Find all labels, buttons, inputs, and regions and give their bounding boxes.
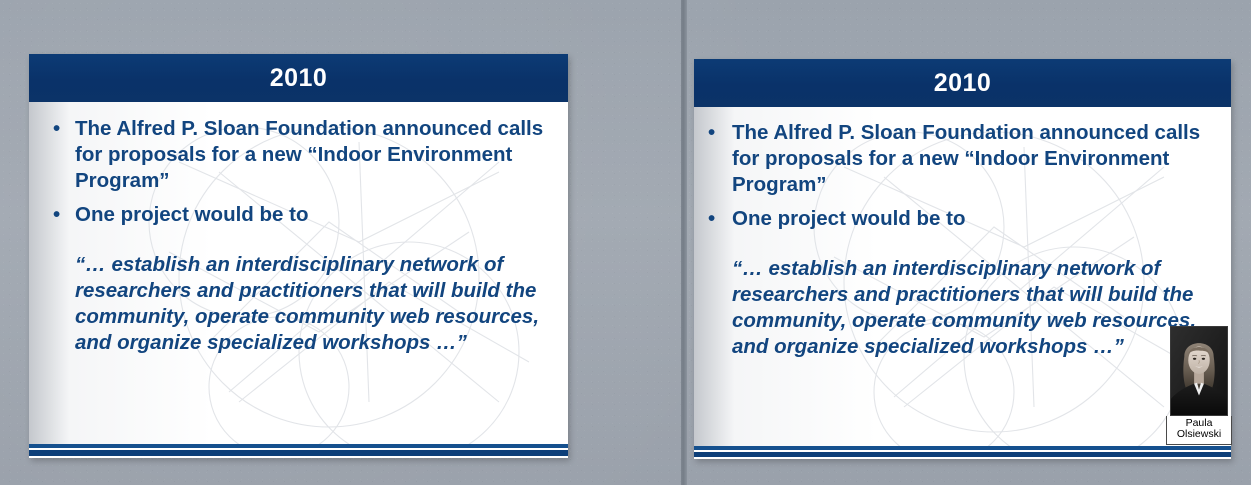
bullet-text: One project would be to [75, 203, 308, 226]
slide-right[interactable]: 2010 • The Alfred P. Sloan Foundation [694, 59, 1231, 459]
slide-title-text: 2010 [934, 69, 992, 98]
portrait-block: Paula Olsiewski [1170, 326, 1228, 445]
bullet-dot-icon: • [53, 116, 60, 142]
bullet-list: • The Alfred P. Sloan Foundation announc… [53, 116, 552, 228]
slide-left[interactable]: 2010 • The Alfred P. Sloan Foundation [29, 54, 568, 458]
slide-footer-bars [694, 446, 1231, 459]
bullet-item: • The Alfred P. Sloan Foundation announc… [708, 120, 1215, 198]
bullet-list: • The Alfred P. Sloan Foundation announc… [708, 120, 1215, 232]
slide-body: • The Alfred P. Sloan Foundation announc… [29, 102, 568, 444]
bullet-text: The Alfred P. Sloan Foundation announced… [732, 121, 1200, 196]
slide-content: • The Alfred P. Sloan Foundation announc… [694, 107, 1231, 360]
headshot-photo-graphic [1171, 327, 1227, 415]
bullet-dot-icon: • [53, 202, 60, 228]
slide-title-text: 2010 [270, 64, 328, 93]
bullet-text: One project would be to [732, 207, 965, 230]
bullet-item: • The Alfred P. Sloan Foundation announc… [53, 116, 552, 194]
bullet-item: • One project would be to [708, 206, 1215, 232]
quote-text: “… establish an interdisciplinary networ… [53, 252, 552, 356]
slide-title-bar: 2010 [694, 59, 1231, 107]
desktop-background: 2010 • The Alfred P. Sloan Foundation [0, 0, 1251, 485]
slide-body: • The Alfred P. Sloan Foundation announc… [694, 107, 1231, 446]
bullet-dot-icon: • [708, 120, 715, 146]
slide-content: • The Alfred P. Sloan Foundation announc… [29, 102, 568, 356]
pane-divider [681, 0, 687, 485]
slide-title-bar: 2010 [29, 54, 568, 102]
bullet-dot-icon: • [708, 206, 715, 232]
quote-text: “… establish an interdisciplinary networ… [708, 256, 1215, 360]
bullet-text: The Alfred P. Sloan Foundation announced… [75, 117, 543, 192]
footer-bar-bottom [29, 450, 568, 456]
bullet-item: • One project would be to [53, 202, 552, 228]
portrait-caption: Paula Olsiewski [1166, 416, 1232, 445]
headshot-photo [1170, 326, 1228, 416]
slide-footer-bars [29, 444, 568, 458]
footer-bar-bottom [694, 452, 1231, 457]
